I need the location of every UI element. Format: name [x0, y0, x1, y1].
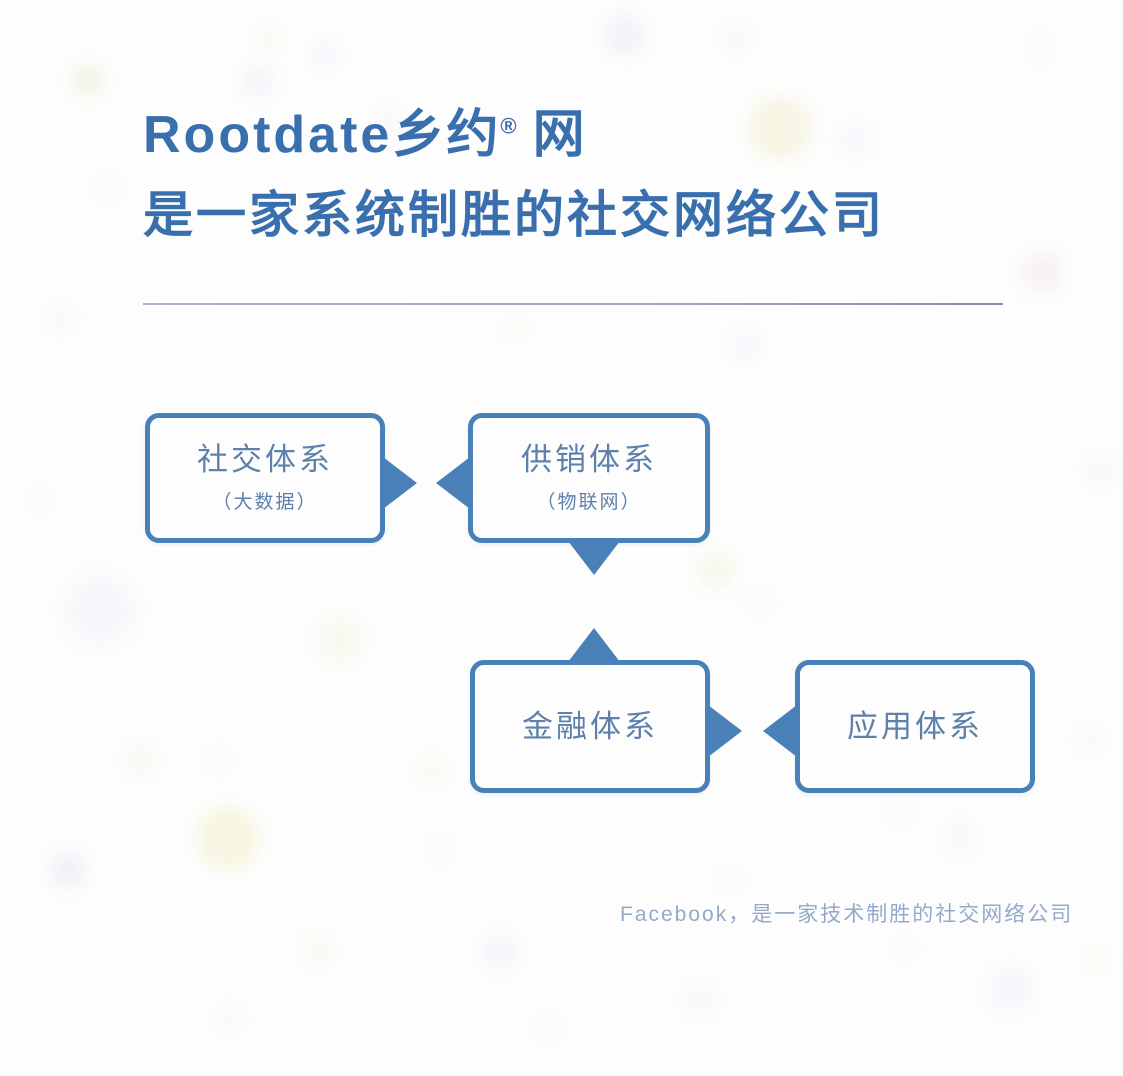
page-title: Rootdate乡约®网 [143, 108, 885, 163]
arrow-application-to-finance-icon [763, 705, 797, 757]
node-finance[interactable]: 金融体系 [470, 660, 710, 793]
arrow-supply-to-finance-icon [568, 541, 620, 575]
node-social[interactable]: 社交体系 （大数据） [145, 413, 385, 543]
title-suffix: 网 [533, 106, 587, 164]
node-social-title: 社交体系 [197, 442, 333, 478]
node-application[interactable]: 应用体系 [795, 660, 1035, 793]
footer-caption: Facebook，是一家技术制胜的社交网络公司 [620, 898, 1073, 928]
title-latin: Rootdate [143, 106, 392, 164]
page-subtitle: 是一家系统制胜的社交网络公司 [143, 189, 885, 242]
headline-block: Rootdate乡约®网 是一家系统制胜的社交网络公司 [143, 108, 885, 241]
header-divider [143, 303, 1003, 305]
title-cn: 乡约 [392, 106, 500, 164]
node-social-subtitle: （大数据） [212, 487, 317, 514]
node-application-title: 应用体系 [847, 709, 983, 745]
node-supply-subtitle: （物联网） [536, 487, 641, 514]
arrow-into-finance-top-icon [568, 628, 620, 662]
registered-trademark-icon: ® [500, 114, 516, 139]
arrow-social-to-supply-icon [383, 457, 417, 509]
node-supply[interactable]: 供销体系 （物联网） [468, 413, 710, 543]
arrow-finance-right-icon [708, 705, 742, 757]
arrow-into-supply-icon [436, 457, 470, 509]
node-finance-title: 金融体系 [522, 709, 658, 745]
node-supply-title: 供销体系 [521, 442, 657, 478]
poster-canvas: Rootdate乡约®网 是一家系统制胜的社交网络公司 社交体系 （大数据） 供… [0, 0, 1123, 1076]
